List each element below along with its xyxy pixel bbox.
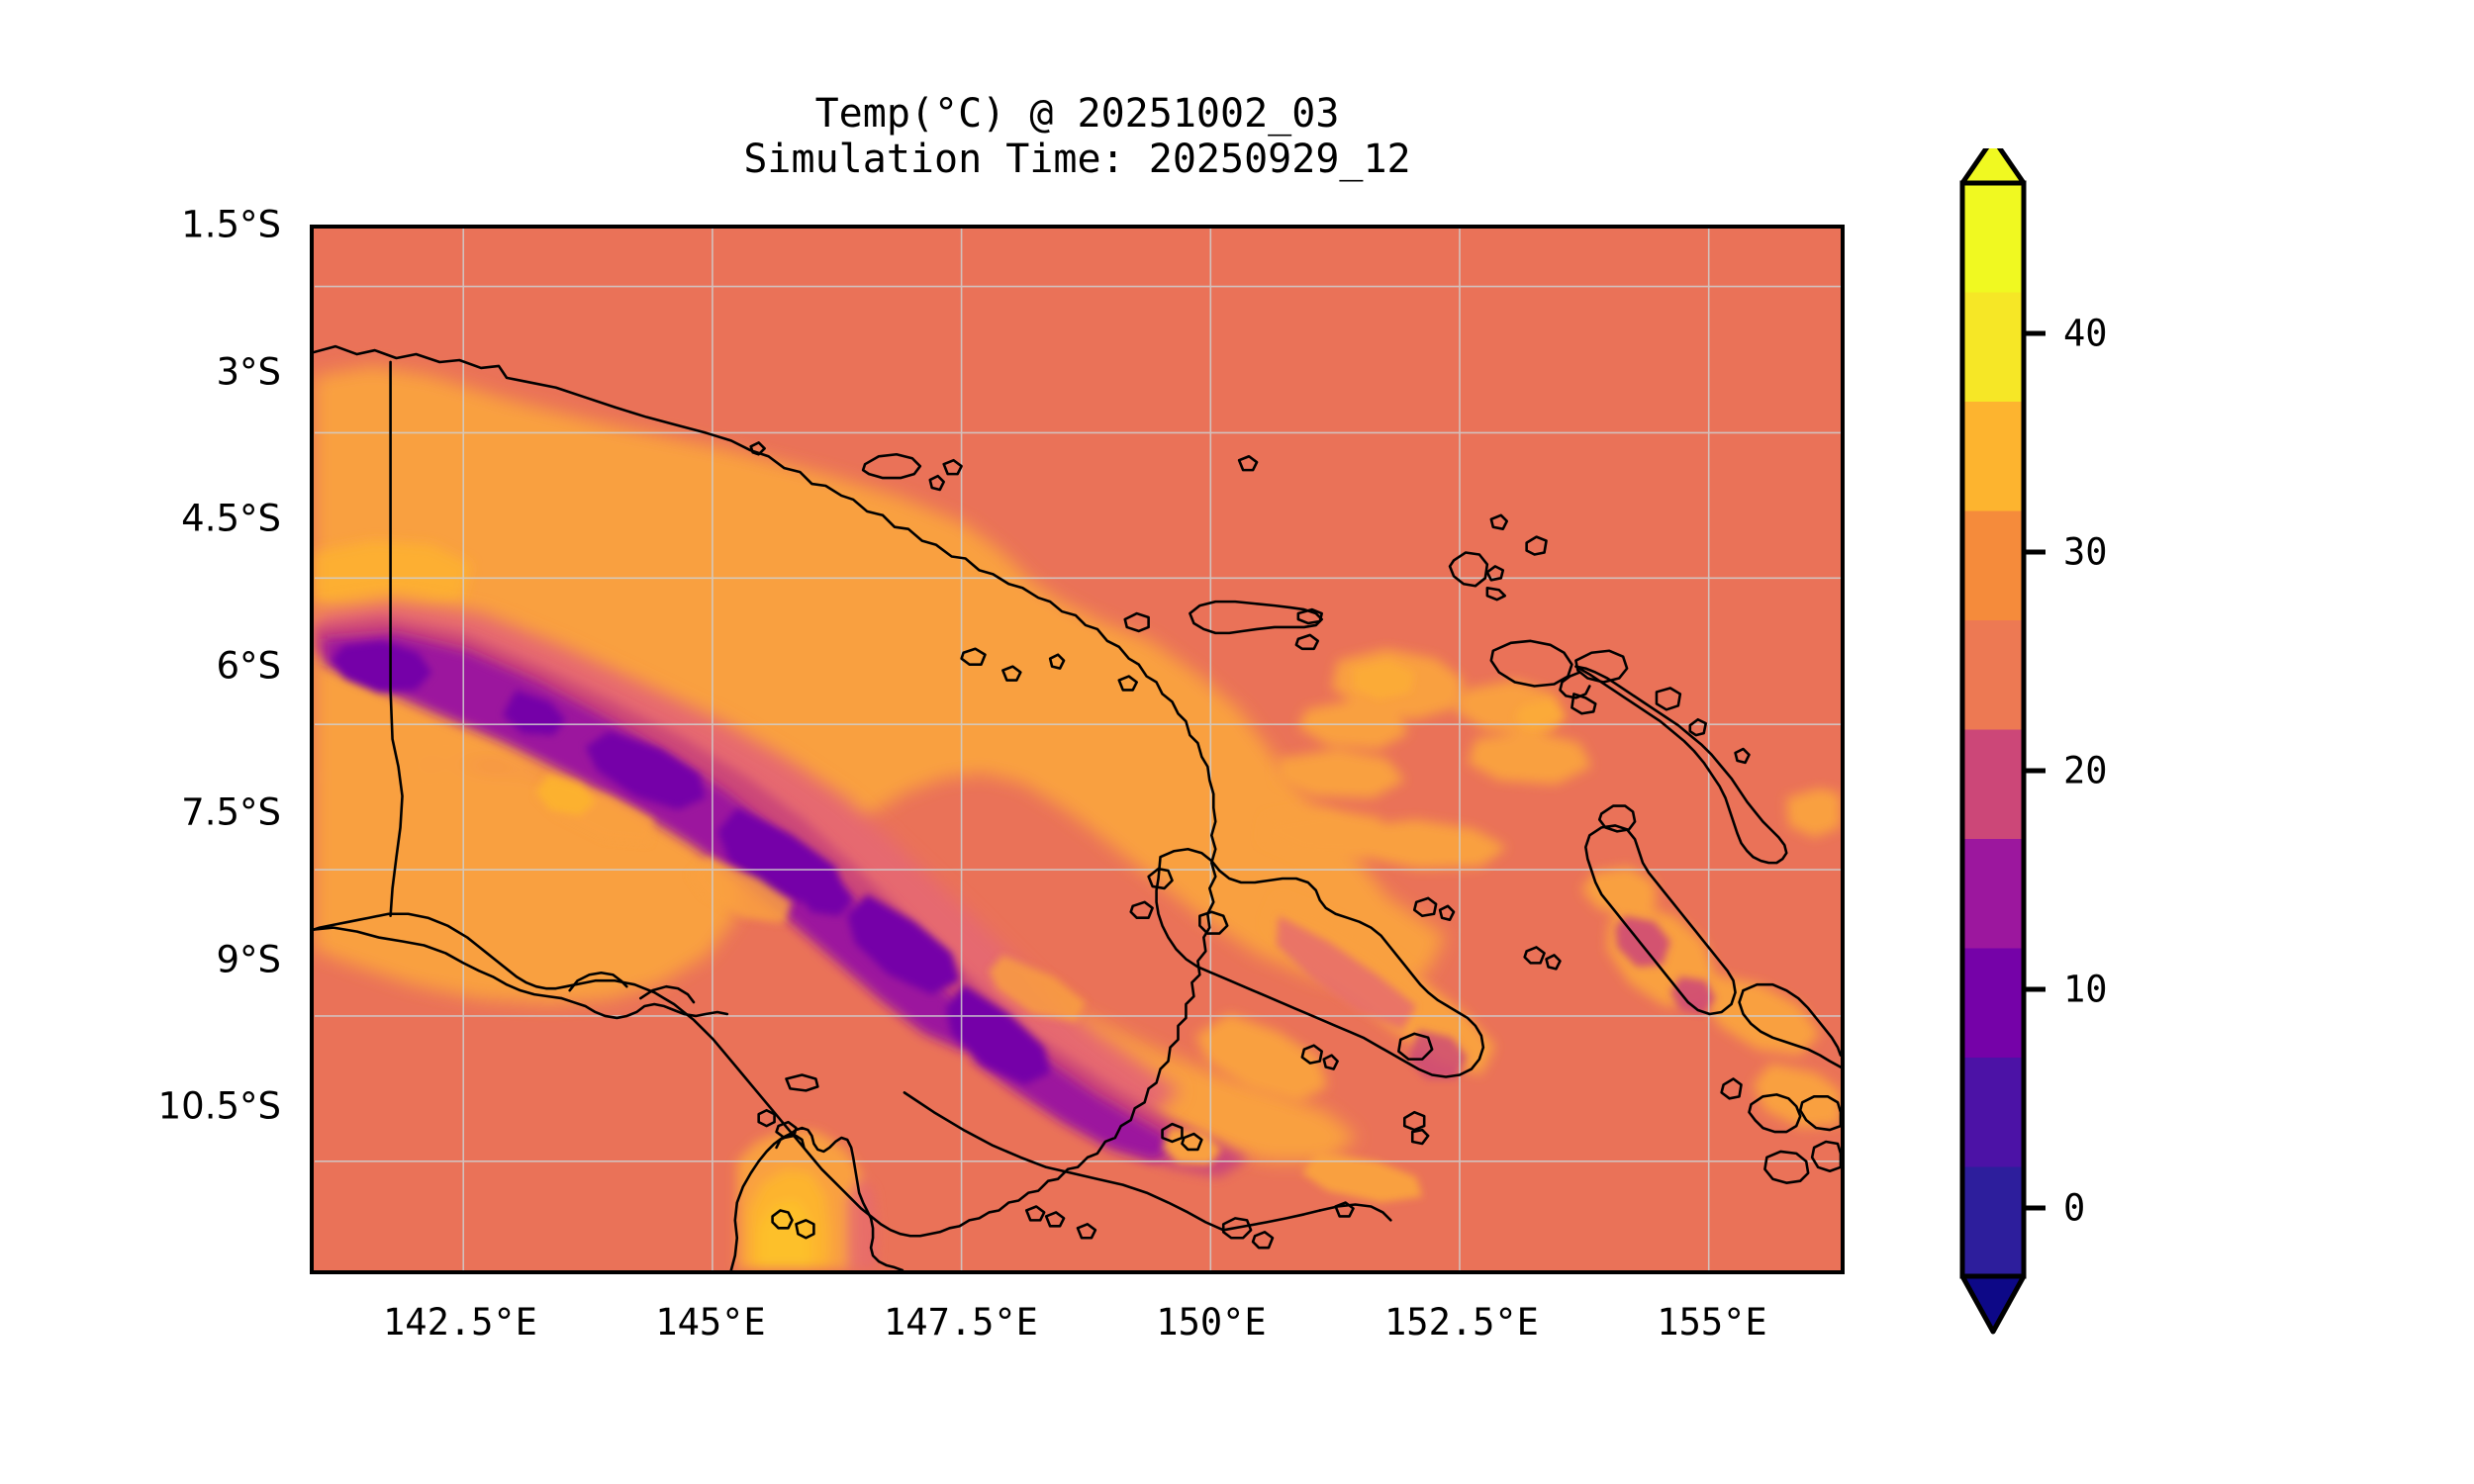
ytick-label: 7.5°S [83, 791, 281, 834]
xtick-label: 147.5°E [884, 1301, 1038, 1344]
colorbar-ticklabel: 30 [2063, 531, 2108, 574]
ytick-label: 1.5°S [83, 204, 281, 246]
colorbar-extend-under-arrow [1962, 1276, 2024, 1332]
colorbar-bands [1962, 183, 2024, 1276]
ytick-label: 10.5°S [83, 1085, 281, 1128]
colorbar-ticklabel: 0 [2063, 1187, 2085, 1230]
figure-canvas: Temp(°C) @ 20251002_03 Simulation Time: … [0, 0, 2474, 1484]
ytick-label: 9°S [83, 939, 281, 981]
colorbar-ticks [2024, 333, 2046, 1208]
ytick-label: 3°S [83, 351, 281, 394]
xtick-label: 155°E [1657, 1301, 1766, 1344]
ytick-label: 6°S [83, 645, 281, 688]
colorbar-gradient [1954, 148, 2073, 1345]
xtick-label: 152.5°E [1384, 1301, 1539, 1344]
colorbar-ticklabel: 20 [2063, 750, 2108, 792]
xtick-label: 142.5°E [383, 1301, 537, 1344]
xtick-label: 150°E [1156, 1301, 1266, 1344]
colorbar[interactable]: 40 30 20 10 0 [1954, 148, 2469, 1345]
colorbar-extend-over-arrow [1962, 148, 2024, 183]
colorbar-ticklabel: 40 [2063, 313, 2108, 355]
xtick-label: 145°E [655, 1301, 765, 1344]
ytick-label: 4.5°S [83, 498, 281, 540]
colorbar-ticklabel: 10 [2063, 969, 2108, 1011]
